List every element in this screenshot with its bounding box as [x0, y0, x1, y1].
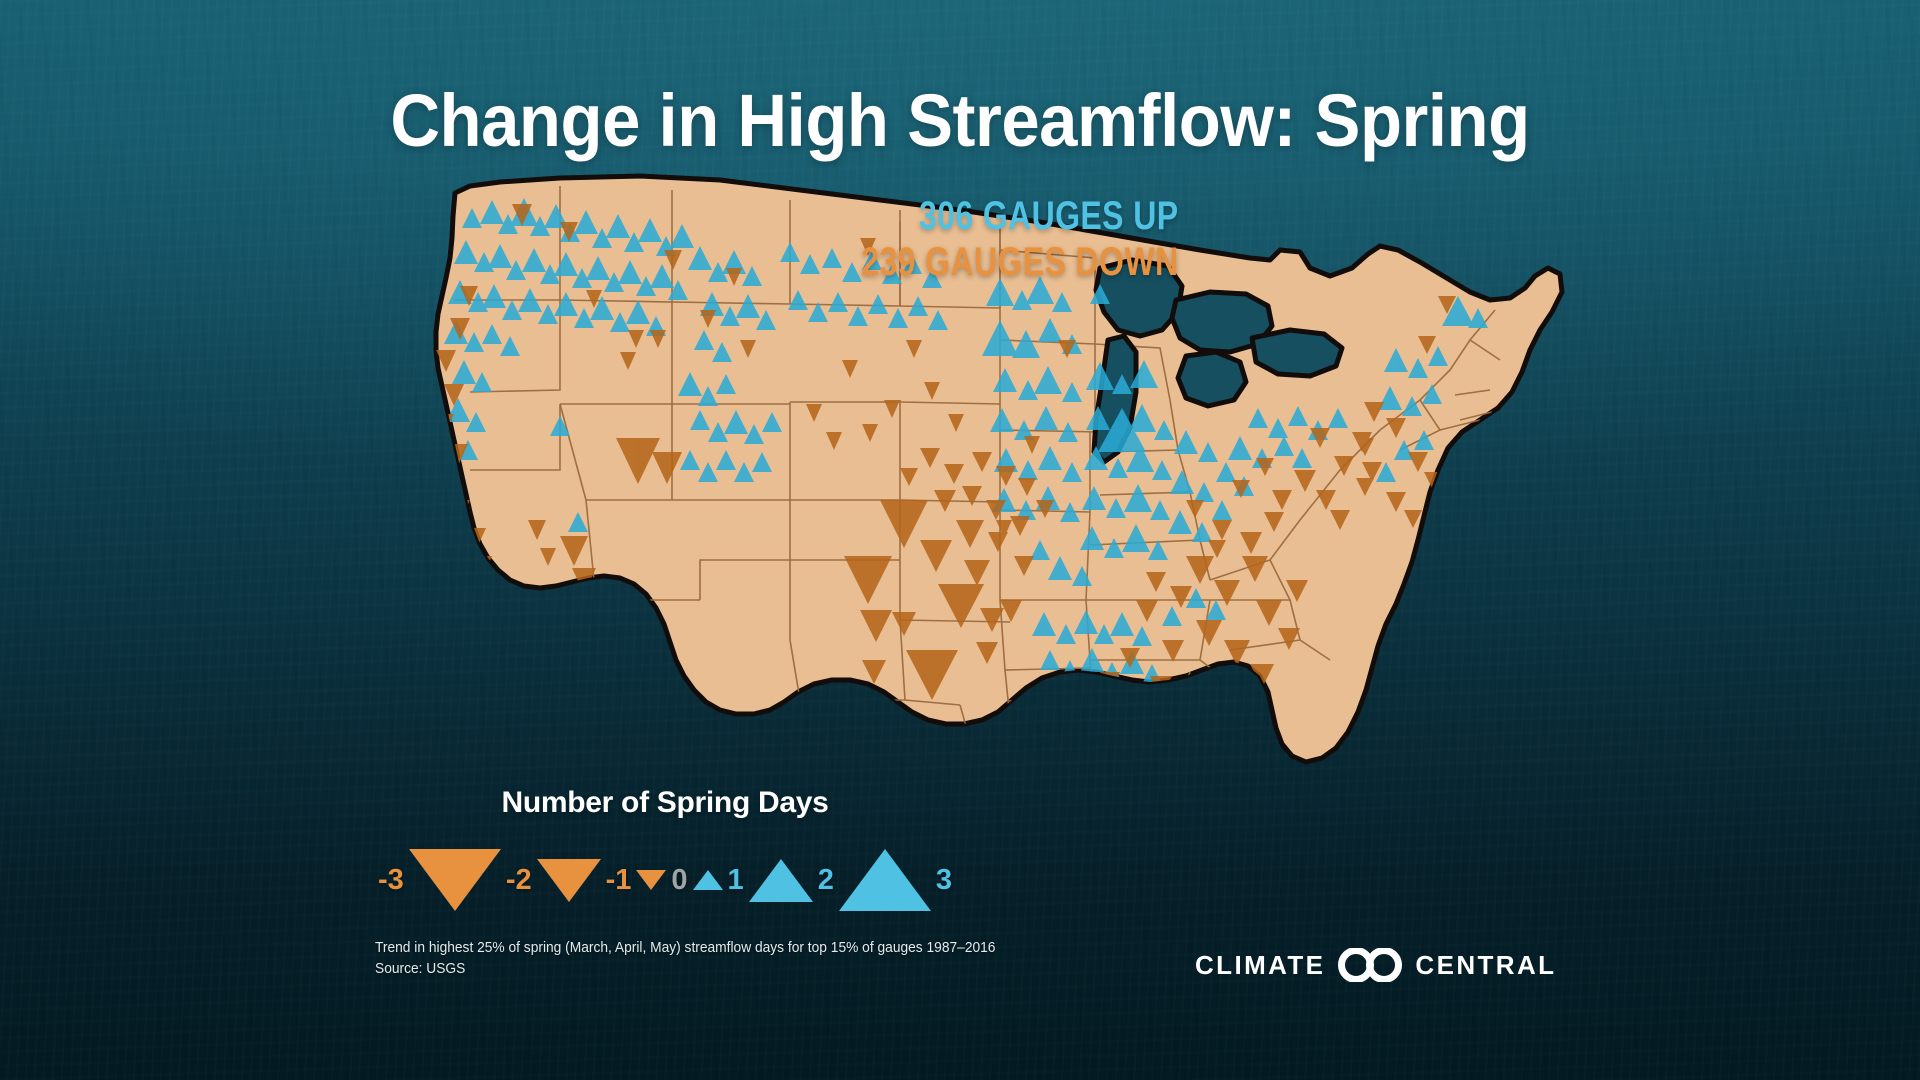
legend-triangle-down — [537, 859, 601, 902]
legend-cell — [749, 859, 813, 902]
page-title: Change in High Streamflow: Spring — [67, 78, 1853, 163]
legend-value-neg1: -1 — [601, 866, 637, 895]
legend-cell: 3 — [931, 866, 957, 895]
footnote-line-1: Trend in highest 25% of spring (March, A… — [375, 938, 995, 959]
logo-word-climate: CLIMATE — [1195, 950, 1325, 981]
legend-cell — [693, 870, 723, 890]
legend-scale: -3-2-10123 — [345, 832, 985, 928]
legend-value-3: 3 — [931, 866, 957, 895]
legend-triangle-up — [693, 870, 723, 890]
legend-cell: 1 — [723, 866, 749, 895]
legend-triangle-up — [749, 859, 813, 902]
climate-central-logo: CLIMATE CENTRAL — [1195, 948, 1556, 982]
stat-gauges-up: 306 GAUGES UP — [861, 196, 1178, 236]
legend-cell: -2 — [501, 866, 537, 895]
legend-cell: -1 — [601, 866, 637, 895]
legend-cell: 2 — [813, 866, 839, 895]
legend-value-neg3: -3 — [373, 866, 409, 895]
stat-gauges-down: 239 GAUGES DOWN — [861, 242, 1178, 282]
legend-cell — [537, 859, 601, 902]
logo-word-central: CENTRAL — [1415, 950, 1556, 981]
footnote: Trend in highest 25% of spring (March, A… — [375, 938, 995, 980]
legend-cell — [636, 870, 666, 890]
legend-triangle-down — [409, 849, 501, 911]
legend-cell: -3 — [373, 866, 409, 895]
footnote-line-2: Source: USGS — [375, 959, 995, 980]
legend-value-2: 2 — [813, 866, 839, 895]
interlocking-rings-icon — [1338, 948, 1402, 982]
infographic-canvas: Change in High Streamflow: Spring 306 GA… — [0, 0, 1920, 1080]
legend-value-0: 0 — [666, 866, 692, 895]
legend-triangle-up — [839, 849, 931, 911]
legend-cell: 0 — [666, 866, 692, 895]
map-legend: Number of Spring Days -3-2-10123 — [345, 786, 985, 928]
legend-value-1: 1 — [723, 866, 749, 895]
gauge-stats: 306 GAUGES UP 239 GAUGES DOWN — [782, 196, 1178, 282]
legend-value-neg2: -2 — [501, 866, 537, 895]
legend-cell — [409, 849, 501, 911]
legend-title: Number of Spring Days — [345, 786, 985, 820]
legend-cell — [839, 849, 931, 911]
legend-triangle-down — [636, 870, 666, 890]
